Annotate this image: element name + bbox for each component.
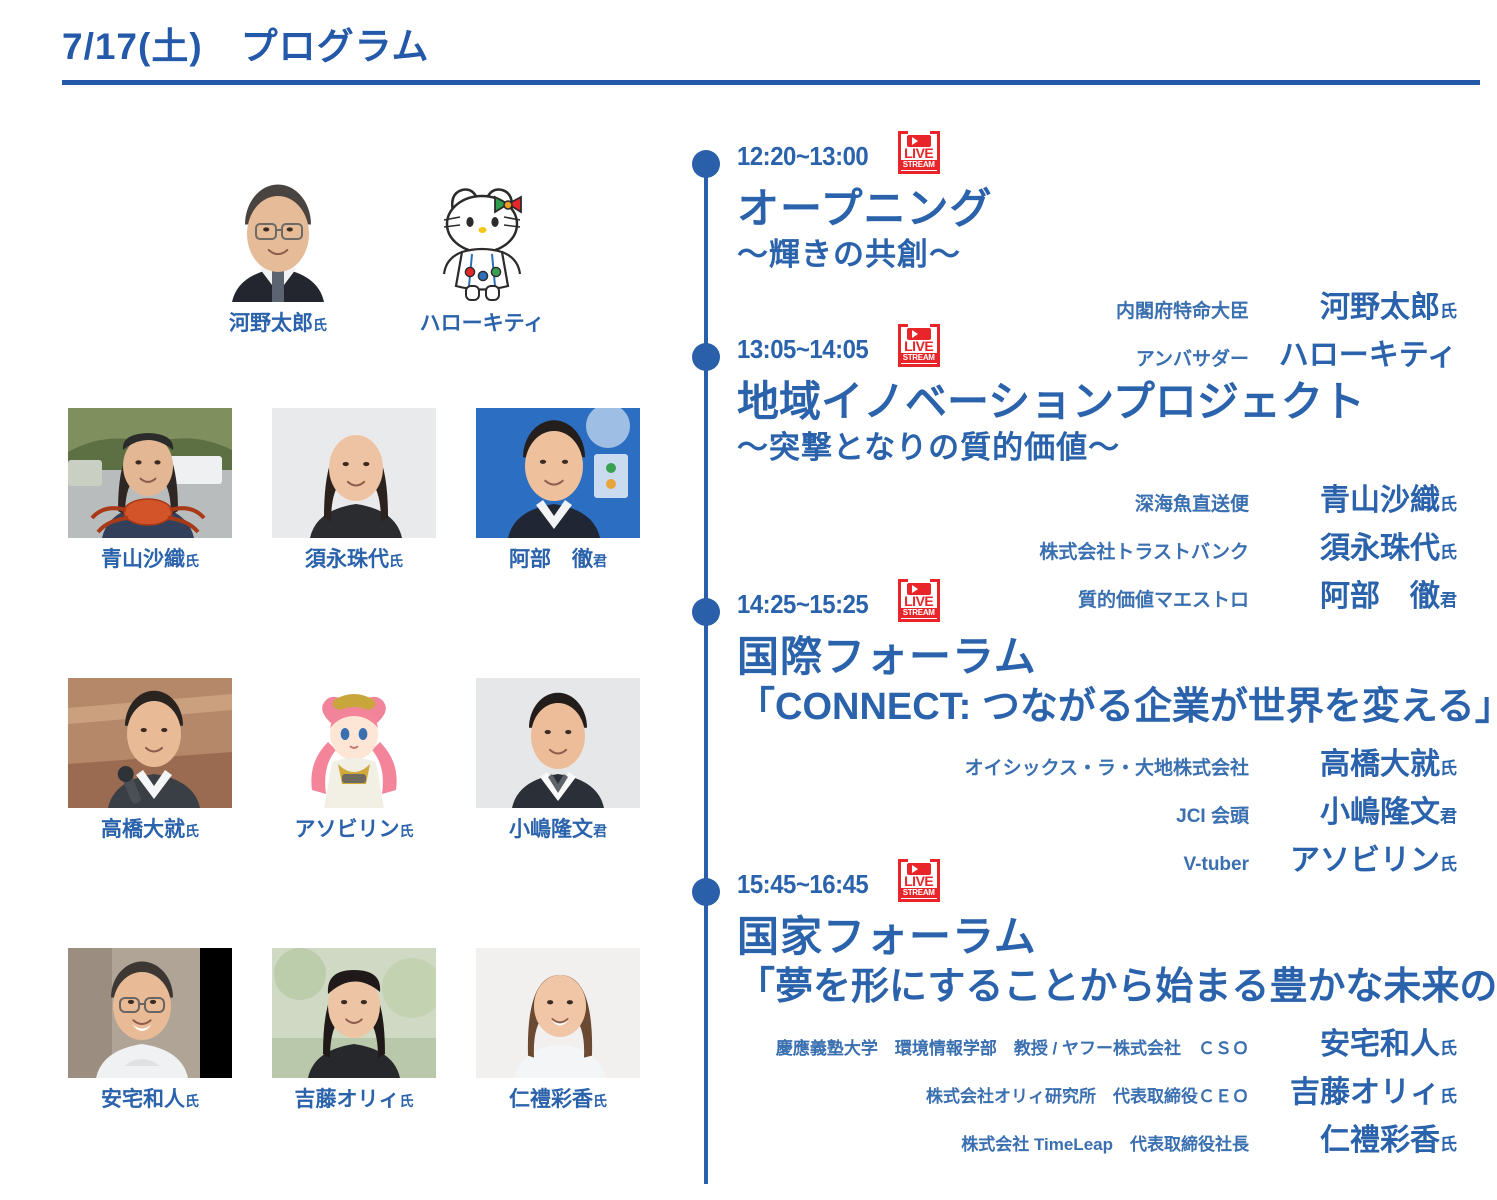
speaker-photo-name: 高橋大就 xyxy=(101,818,185,841)
speaker-photo-name: ハローキティ xyxy=(420,312,545,335)
session-title: 国家フォーラム xyxy=(737,912,1497,962)
live-stream-badge[interactable]: LIVESTREAM xyxy=(898,862,940,902)
speaker-name-wrap: 須永珠代氏 xyxy=(1275,523,1457,567)
speaker-photo-card[interactable]: アソビリン氏 xyxy=(272,678,436,842)
speaker-photo-caption: 河野太郎氏 xyxy=(229,311,327,336)
speaker-photo-caption: 安宅和人氏 xyxy=(101,1087,199,1112)
program-content: 河野太郎氏ハローキティ青山沙織氏須永珠代氏阿部 徹君高橋大就氏アソビリン氏小嶋隆… xyxy=(0,120,1497,1200)
page-title: 7/17(土) プログラム xyxy=(62,24,1480,70)
session-title: オープニング xyxy=(737,184,1497,234)
timeline-dot xyxy=(692,343,720,371)
badge-live-label: LIVE xyxy=(898,595,940,607)
speaker-affiliation: オイシックス・ラ・大地株式会社 xyxy=(965,753,1249,780)
speaker-honorific: 氏 xyxy=(1440,1135,1457,1154)
speaker-honorific: 氏 xyxy=(1440,759,1457,778)
speaker-photo-name: 青山沙織 xyxy=(101,548,185,571)
speaker-name: 仁禮彩香 xyxy=(1320,1124,1440,1157)
speaker-name: 須永珠代 xyxy=(1320,532,1440,565)
photo-man-microphone-image xyxy=(68,678,232,808)
speaker-name: 安宅和人 xyxy=(1320,1028,1440,1061)
badge-stream-label: STREAM xyxy=(901,888,937,898)
session-time: 13:05~14:05 xyxy=(737,335,868,364)
speaker-honorific: 氏 xyxy=(1440,495,1457,514)
photo-row: 青山沙織氏須永珠代氏阿部 徹君 xyxy=(68,408,640,572)
speaker-photo-honorific: 君 xyxy=(593,823,607,839)
timeline-dot xyxy=(692,150,720,178)
speaker-photo-card[interactable]: 小嶋隆文君 xyxy=(476,678,640,842)
speaker-affiliation: 内閣府特命大臣 xyxy=(1116,296,1249,323)
speaker-photo-card[interactable]: 青山沙織氏 xyxy=(68,408,232,572)
badge-stream-label: STREAM xyxy=(901,160,937,170)
session-header: 15:45~16:45LIVESTREAM xyxy=(737,870,1497,910)
speaker-affiliation: 深海魚直送便 xyxy=(1135,489,1249,516)
live-stream-badge[interactable]: LIVESTREAM xyxy=(898,582,940,622)
speaker-affiliation: JCI 会頭 xyxy=(1176,801,1249,828)
title-divider xyxy=(62,80,1480,85)
speaker-honorific: 氏 xyxy=(1440,1087,1457,1106)
speaker-photo-name: 吉藤オリィ xyxy=(295,1088,400,1111)
photo-man-green-background-image xyxy=(272,948,436,1078)
speaker-photo-card[interactable]: 安宅和人氏 xyxy=(68,948,232,1112)
speaker-affiliation: 株式会社トラストバンク xyxy=(1039,537,1249,564)
speaker-photo-caption: 仁禮彩香氏 xyxy=(509,1087,607,1112)
speaker-name-wrap: 安宅和人氏 xyxy=(1275,1019,1457,1063)
session-block[interactable]: 14:25~15:25LIVESTREAM国際フォーラム「CONNECT: つな… xyxy=(685,590,1497,879)
speaker-entry: 内閣府特命大臣河野太郎氏 xyxy=(685,282,1457,326)
speaker-honorific: 氏 xyxy=(1440,543,1457,562)
speaker-photo-card[interactable]: 吉藤オリィ氏 xyxy=(272,948,436,1112)
speaker-photo-honorific: 氏 xyxy=(185,1093,199,1109)
session-header: 14:25~15:25LIVESTREAM xyxy=(737,590,1497,630)
photo-woman-outdoor-crab-image xyxy=(68,408,232,538)
speaker-photo-honorific: 氏 xyxy=(313,317,327,333)
speaker-name: 高橋大就 xyxy=(1320,748,1440,781)
photo-woman-long-hair-image xyxy=(272,408,436,538)
speaker-photo-name: 阿部 徹 xyxy=(509,548,593,571)
speaker-photo-card[interactable]: ハローキティ xyxy=(400,172,564,336)
live-stream-badge[interactable]: LIVESTREAM xyxy=(898,134,940,174)
speaker-photo-caption: 青山沙織氏 xyxy=(101,547,199,572)
photo-woman-smiling-white-image xyxy=(476,948,640,1078)
speaker-photo-caption: ハローキティ xyxy=(420,311,545,336)
photo-row: 河野太郎氏ハローキティ xyxy=(196,172,564,336)
speaker-photo-name: 小嶋隆文 xyxy=(509,818,593,841)
speaker-entry: 深海魚直送便青山沙織氏 xyxy=(685,475,1457,519)
photo-row: 安宅和人氏吉藤オリィ氏仁禮彩香氏 xyxy=(68,948,640,1112)
badge-stream-label: STREAM xyxy=(901,608,937,618)
badge-stream-label: STREAM xyxy=(901,353,937,363)
speaker-photo-card[interactable]: 仁禮彩香氏 xyxy=(476,948,640,1112)
session-title: 国際フォーラム xyxy=(737,632,1497,682)
session-subtitle: ～輝きの共創～ xyxy=(737,236,1497,275)
schedule-timeline: 12:20~13:00LIVESTREAMオープニング～輝きの共創～内閣府特命大… xyxy=(685,120,1497,1200)
session-title: 地域イノベーションプロジェクト xyxy=(737,377,1497,427)
speaker-name-wrap: 高橋大就氏 xyxy=(1275,739,1457,783)
speaker-photo-name: アソビリン xyxy=(295,818,400,841)
photo-man-grey-backdrop-image xyxy=(476,678,640,808)
speaker-photo-honorific: 氏 xyxy=(400,823,414,839)
speaker-photo-caption: 高橋大就氏 xyxy=(101,817,199,842)
speaker-name: 小嶋隆文 xyxy=(1320,796,1440,829)
illustration-vtuber-character-image xyxy=(272,678,436,808)
speaker-name-wrap: 青山沙織氏 xyxy=(1275,475,1457,519)
session-header: 12:20~13:00LIVESTREAM xyxy=(737,142,1497,182)
speaker-photo-card[interactable]: 高橋大就氏 xyxy=(68,678,232,842)
session-time: 12:20~13:00 xyxy=(737,142,868,171)
session-block[interactable]: 13:05~14:05LIVESTREAM地域イノベーションプロジェクト～突撃と… xyxy=(685,335,1497,615)
speaker-photo-caption: 阿部 徹君 xyxy=(509,547,607,572)
speaker-photo-name: 須永珠代 xyxy=(305,548,389,571)
speaker-entry: オイシックス・ラ・大地株式会社高橋大就氏 xyxy=(685,739,1457,783)
speaker-affiliation: 慶應義塾大学 環境情報学部 教授 / ヤフー株式会社 ＣＳＯ xyxy=(776,1034,1249,1059)
session-header: 13:05~14:05LIVESTREAM xyxy=(737,335,1497,375)
badge-live-label: LIVE xyxy=(898,340,940,352)
speaker-name: 吉藤オリィ xyxy=(1290,1076,1440,1109)
speaker-photo-honorific: 氏 xyxy=(185,823,199,839)
session-block[interactable]: 15:45~16:45LIVESTREAM国家フォーラム「夢を形にすることから始… xyxy=(685,870,1497,1159)
speaker-photo-name: 河野太郎 xyxy=(229,312,313,335)
badge-live-label: LIVE xyxy=(898,147,940,159)
speaker-photo-caption: アソビリン氏 xyxy=(295,817,414,842)
live-stream-badge[interactable]: LIVESTREAM xyxy=(898,327,940,367)
speaker-photo-honorific: 君 xyxy=(593,553,607,569)
speaker-photo-card[interactable]: 須永珠代氏 xyxy=(272,408,436,572)
speaker-name-wrap: 河野太郎氏 xyxy=(1275,282,1457,326)
speaker-name-wrap: 吉藤オリィ氏 xyxy=(1275,1067,1457,1111)
photo-man-suit-glasses-image xyxy=(196,172,360,302)
badge-live-label: LIVE xyxy=(898,875,940,887)
speaker-entry: 慶應義塾大学 環境情報学部 教授 / ヤフー株式会社 ＣＳＯ安宅和人氏 xyxy=(685,1019,1457,1063)
page-header: 7/17(土) プログラム xyxy=(62,24,1480,85)
speaker-photo-name: 安宅和人 xyxy=(101,1088,185,1111)
speaker-photo-grid: 河野太郎氏ハローキティ青山沙織氏須永珠代氏阿部 徹君高橋大就氏アソビリン氏小嶋隆… xyxy=(0,120,685,1200)
speaker-photo-honorific: 氏 xyxy=(400,1093,414,1109)
session-subtitle: 「CONNECT: つながる企業が世界を変える」 xyxy=(737,684,1497,732)
speaker-photo-honorific: 氏 xyxy=(185,553,199,569)
speaker-honorific: 氏 xyxy=(1440,1039,1457,1058)
speaker-affiliation: 株式会社 TimeLeap 代表取締役社長 xyxy=(961,1130,1249,1155)
speaker-honorific: 氏 xyxy=(1440,302,1457,321)
session-speaker-list: オイシックス・ラ・大地株式会社高橋大就氏JCI 会頭小嶋隆文君V-tuberアソ… xyxy=(685,739,1497,879)
speaker-name-wrap: 仁禮彩香氏 xyxy=(1275,1115,1457,1159)
speaker-honorific: 君 xyxy=(1440,807,1457,826)
session-time: 15:45~16:45 xyxy=(737,870,868,899)
speaker-entry: 株式会社トラストバンク須永珠代氏 xyxy=(685,523,1457,567)
photo-man-blue-backdrop-image xyxy=(476,408,640,538)
photo-man-glasses-smiling-image xyxy=(68,948,232,1078)
speaker-photo-honorific: 氏 xyxy=(389,553,403,569)
timeline-dot xyxy=(692,598,720,626)
speaker-photo-caption: 須永珠代氏 xyxy=(305,547,403,572)
session-subtitle: 「夢を形にすることから始まる豊かな未来のつくりかた」 xyxy=(737,964,1497,1012)
speaker-entry: 株式会社 TimeLeap 代表取締役社長仁禮彩香氏 xyxy=(685,1115,1457,1159)
speaker-entry: JCI 会頭小嶋隆文君 xyxy=(685,787,1457,831)
speaker-photo-caption: 小嶋隆文君 xyxy=(509,817,607,842)
speaker-affiliation: 株式会社オリィ研究所 代表取締役ＣＥＯ xyxy=(926,1082,1249,1107)
session-subtitle: ～突撃となりの質的価値～ xyxy=(737,429,1497,468)
speaker-photo-name: 仁禮彩香 xyxy=(509,1088,593,1111)
speaker-name: 河野太郎 xyxy=(1320,291,1440,324)
session-speaker-list: 慶應義塾大学 環境情報学部 教授 / ヤフー株式会社 ＣＳＯ安宅和人氏株式会社オ… xyxy=(685,1019,1497,1159)
speaker-name-wrap: 小嶋隆文君 xyxy=(1275,787,1457,831)
speaker-photo-card[interactable]: 河野太郎氏 xyxy=(196,172,360,336)
speaker-photo-honorific: 氏 xyxy=(593,1093,607,1109)
speaker-photo-caption: 吉藤オリィ氏 xyxy=(295,1087,414,1112)
session-time: 14:25~15:25 xyxy=(737,590,868,619)
speaker-photo-card[interactable]: 阿部 徹君 xyxy=(476,408,640,572)
speaker-name: 青山沙織 xyxy=(1320,484,1440,517)
timeline-dot xyxy=(692,878,720,906)
photo-row: 高橋大就氏アソビリン氏小嶋隆文君 xyxy=(68,678,640,842)
speaker-entry: 株式会社オリィ研究所 代表取締役ＣＥＯ吉藤オリィ氏 xyxy=(685,1067,1457,1111)
illustration-hello-kitty-image xyxy=(400,172,564,302)
